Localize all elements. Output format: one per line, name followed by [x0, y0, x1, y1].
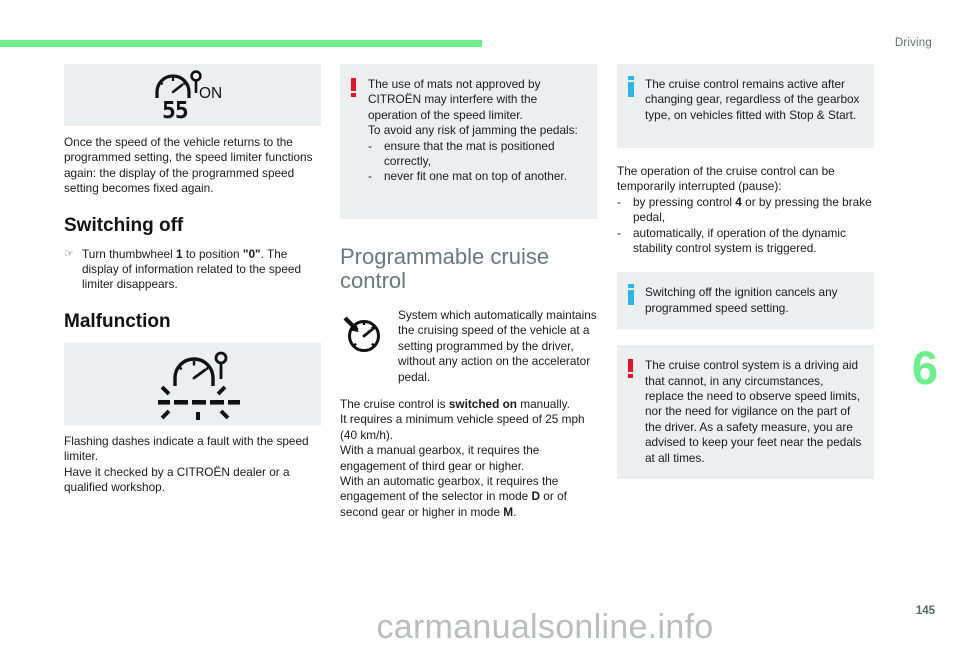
malfunction-heading: Malfunction: [64, 311, 321, 333]
callout-warning-mats: The use of mats not approved by CITROËN …: [340, 64, 597, 219]
pause-b1-a: by pressing control: [633, 195, 735, 209]
warning-exclamation-icon: [351, 78, 356, 91]
callout-info-ignition: Switching off the ignition cancels any p…: [617, 272, 874, 329]
cruise-p4-bold-2: M: [503, 505, 513, 519]
speedometer-flashing-dashes-icon: [128, 346, 258, 422]
pause-bullet-1: - by pressing control 4 or by pressing t…: [617, 195, 874, 226]
site-watermark: carmanualsonline.info: [0, 608, 960, 647]
callout-info-ignition-text: Switching off the ignition cancels any p…: [645, 285, 862, 316]
cruise-control-speedometer-icon: [340, 311, 388, 355]
info-icon-wrapper: [627, 77, 645, 135]
cruise-control-definition: System which automatically maintains the…: [340, 305, 597, 385]
speedometer-on-55-icon: ON 55: [137, 68, 249, 122]
cruise-icon-wrapper: [340, 305, 398, 385]
info-icon-wrapper: [627, 285, 645, 316]
cruise-p4-c: .: [513, 505, 516, 519]
cruise-p1-b: manually.: [517, 397, 570, 411]
callout-info-stopstart: The cruise control remains active after …: [617, 64, 874, 148]
warning-exclamation-icon: [628, 359, 633, 372]
proc-text-1: Turn thumbwheel: [82, 247, 176, 261]
switching-off-procedure: ☞ Turn thumbwheel 1 to position "0". The…: [64, 247, 321, 293]
info-i-icon: [628, 82, 634, 97]
svg-text:55: 55: [162, 98, 188, 122]
proc-bold-2: "0": [243, 247, 261, 261]
malfunction-caption: Flashing dashes indicate a fault with th…: [64, 434, 321, 496]
cruise-p1-bold: switched on: [449, 397, 517, 411]
warning-mats-bullet-2: - never fit one mat on top of another.: [368, 169, 585, 184]
warning-mats-bullet-1-text: ensure that the mat is positioned correc…: [384, 139, 585, 170]
dash-marker: -: [368, 139, 384, 170]
dash-marker: -: [617, 195, 633, 226]
header-green-rule: [0, 40, 482, 47]
svg-text:ON: ON: [199, 85, 222, 102]
pause-bullet-1-text: by pressing control 4 or by pressing the…: [633, 195, 874, 226]
programmable-cruise-control-title: Programmable cruise control: [340, 245, 597, 293]
pointing-hand-icon: ☞: [64, 247, 82, 293]
cruise-control-description: System which automatically maintains the…: [398, 305, 597, 385]
switching-off-heading: Switching off: [64, 215, 321, 237]
spacer: [617, 148, 874, 164]
spacer: [617, 256, 874, 272]
header-section-label: Driving: [895, 37, 932, 49]
warning-icon-wrapper: [350, 77, 368, 206]
cruise-body-p2: It requires a minimum vehicle speed of 2…: [340, 412, 597, 443]
cruise-p4-bold-1: D: [532, 489, 541, 503]
pause-intro-paragraph: The operation of the cruise control can …: [617, 164, 874, 195]
warning-mats-bullet-1: - ensure that the mat is positioned corr…: [368, 139, 585, 170]
warning-mats-line-2: To avoid any risk of jamming the pedals:: [368, 123, 585, 138]
speed-returns-paragraph: Once the speed of the vehicle returns to…: [64, 135, 321, 197]
callout-info-stopstart-text: The cruise control remains active after …: [645, 77, 862, 135]
proc-text-2: to position: [183, 247, 243, 261]
cruise-p4-a: With an automatic gearbox, it requires t…: [340, 474, 558, 503]
warning-mats-line-1: The use of mats not approved by CITROËN …: [368, 77, 585, 123]
pause-bullet-2-text: automatically, if operation of the dynam…: [633, 226, 874, 257]
switching-off-procedure-text: Turn thumbwheel 1 to position "0". The d…: [82, 247, 321, 293]
column-middle: The use of mats not approved by CITROËN …: [340, 64, 597, 520]
warning-mats-bullet-2-text: never fit one mat on top of another.: [384, 169, 585, 184]
spacer: [340, 385, 597, 397]
callout-warning-driving-aid: The cruise control system is a driving a…: [617, 345, 874, 479]
dash-marker: -: [617, 226, 633, 257]
callout-warning-driving-aid-text: The cruise control system is a driving a…: [645, 358, 862, 466]
chapter-number: 6: [912, 344, 938, 391]
pause-bullet-2: - automatically, if operation of the dyn…: [617, 226, 874, 257]
column-right: The cruise control remains active after …: [617, 64, 874, 479]
dash-marker: -: [368, 169, 384, 184]
cruise-body-p3: With a manual gearbox, it requires the e…: [340, 443, 597, 474]
callout-warning-mats-body: The use of mats not approved by CITROËN …: [368, 77, 585, 206]
figure-malfunction: [64, 343, 321, 425]
cruise-body-p4: With an automatic gearbox, it requires t…: [340, 474, 597, 520]
warning-icon-wrapper: [627, 358, 645, 466]
column-left: ON 55 Once the speed of the vehicle retu…: [64, 64, 321, 495]
figure-speed-limiter-on: ON 55: [64, 64, 321, 126]
cruise-body-p1: The cruise control is switched on manual…: [340, 397, 597, 412]
spacer: [617, 329, 874, 345]
info-i-icon: [628, 290, 634, 305]
cruise-p1-a: The cruise control is: [340, 397, 449, 411]
